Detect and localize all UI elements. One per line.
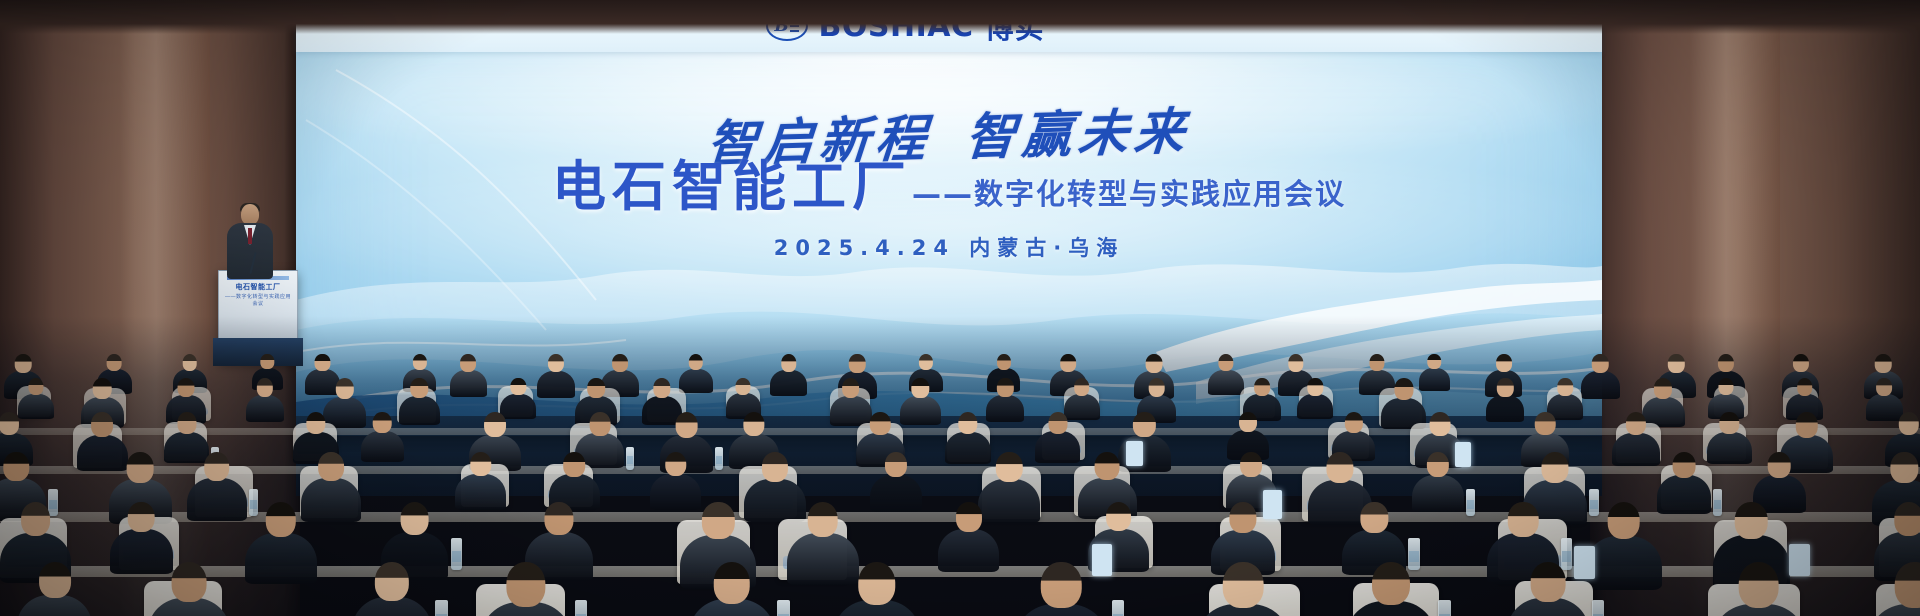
audience-attendee xyxy=(1707,412,1753,464)
attendee-head xyxy=(781,354,796,372)
attendee-head xyxy=(1720,412,1739,434)
attendee-head xyxy=(1894,502,1920,536)
audience-attendee xyxy=(148,562,230,616)
podium-title: 电石智能工厂 xyxy=(225,283,291,294)
presenter-tie xyxy=(248,228,252,244)
attendee-phone xyxy=(1789,544,1810,576)
attendee-shoulders xyxy=(361,431,405,462)
attendee-head xyxy=(1542,452,1569,483)
audience-attendee xyxy=(537,354,575,398)
attendee-head xyxy=(506,562,545,607)
attendee-head xyxy=(172,562,207,602)
attendee-phone xyxy=(1574,546,1595,578)
attendee-head xyxy=(1626,412,1646,435)
attendee-head xyxy=(1899,412,1919,435)
water-bottle xyxy=(777,600,790,616)
audience-attendee xyxy=(399,378,440,425)
screen-title-row: 电石智能工厂 ——数字化转型与实践应用会议 xyxy=(296,160,1602,214)
audience-attendee xyxy=(1612,412,1659,466)
attendee-head xyxy=(762,452,788,482)
attendee-head xyxy=(885,452,907,477)
attendee-head xyxy=(1508,502,1539,537)
attendee-head xyxy=(318,452,344,481)
attendee-head xyxy=(1061,354,1077,372)
water-bottle xyxy=(626,447,634,470)
attendee-phone xyxy=(1126,441,1143,467)
attendee-shoulders xyxy=(399,396,440,425)
attendee-head xyxy=(736,378,751,395)
attendee-head xyxy=(1668,354,1684,373)
attendee-shoulders xyxy=(770,370,806,396)
attendee-head xyxy=(1345,412,1363,433)
attendee-head xyxy=(128,502,155,532)
attendee-head xyxy=(1239,412,1257,432)
audience-attendee xyxy=(352,562,433,616)
attendee-head xyxy=(266,502,296,537)
water-bottle xyxy=(1466,489,1476,516)
attendee-head xyxy=(842,378,860,398)
audience-attendee xyxy=(1195,562,1291,616)
audience-attendee xyxy=(1035,412,1080,463)
attendee-shoulders xyxy=(1412,475,1464,512)
attendee-head xyxy=(1496,354,1512,372)
attendee-head xyxy=(1796,412,1818,438)
audience-attendee xyxy=(1657,452,1711,514)
audience-attendee xyxy=(900,378,941,425)
attendee-head xyxy=(460,354,476,372)
audience-attendee xyxy=(245,502,317,584)
attendee-head xyxy=(177,412,196,434)
audience-attendee xyxy=(455,452,505,510)
attendee-head xyxy=(675,412,698,438)
attendee-head xyxy=(744,412,765,436)
attendee-head xyxy=(335,378,353,399)
attendee-head xyxy=(1148,378,1165,397)
attendee-head xyxy=(1427,452,1449,477)
attendee-head xyxy=(373,412,392,433)
attendee-phone xyxy=(1092,544,1113,576)
attendee-head xyxy=(1429,412,1450,436)
attendee-head xyxy=(919,354,933,370)
attendee-shoulders xyxy=(450,370,487,397)
audience-attendee xyxy=(870,452,922,512)
attendee-head xyxy=(1768,452,1791,478)
attendee-head xyxy=(1074,378,1090,396)
attendee-shoulders xyxy=(679,369,713,393)
audience-attendee xyxy=(450,354,487,397)
attendee-head xyxy=(1106,502,1132,531)
attendee-phone xyxy=(1455,442,1472,468)
attendee-head xyxy=(1535,412,1556,435)
attendee-head xyxy=(958,412,977,434)
attendee-head xyxy=(997,378,1013,397)
audience-attendee xyxy=(938,502,999,572)
audience-attendee xyxy=(833,562,921,616)
attendee-head xyxy=(257,378,273,397)
podium-label: 电石智能工厂 ——数字化转型与实践应用会议 xyxy=(225,283,291,309)
attendee-head xyxy=(177,378,194,397)
water-bottle xyxy=(715,447,723,470)
attendee-shoulders xyxy=(938,529,999,573)
attendee-head xyxy=(470,452,491,476)
screen-main-title: 电石智能工厂 xyxy=(552,160,912,214)
attendee-head xyxy=(1735,502,1768,539)
attendee-head xyxy=(713,562,750,604)
attendee-head xyxy=(587,378,605,398)
attendee-head xyxy=(997,354,1011,370)
attendee-shoulders xyxy=(900,396,941,425)
audience-attendee xyxy=(679,354,713,393)
attendee-head xyxy=(1875,354,1892,373)
attendee-head xyxy=(858,562,895,605)
attendee-head xyxy=(1254,378,1270,396)
audience-attendee xyxy=(1581,354,1620,399)
attendee-head xyxy=(589,412,610,436)
attendee-shoulders xyxy=(537,371,575,398)
attendee-head xyxy=(0,412,19,435)
audience-attendee xyxy=(1585,502,1662,590)
attendee-head xyxy=(1041,562,1081,608)
attendee-shoulders xyxy=(246,395,284,422)
attendee-head xyxy=(375,562,409,601)
attendee-head xyxy=(1607,502,1640,539)
attendee-head xyxy=(91,412,113,437)
attendee-head xyxy=(1372,562,1410,605)
attendee-head xyxy=(28,378,43,395)
attendee-shoulders xyxy=(1657,475,1711,513)
attendee-head xyxy=(15,354,32,373)
hall-ceiling xyxy=(0,0,1920,34)
podium-subtitle: ——数字化转型与实践应用会议 xyxy=(225,294,291,309)
attendee-head xyxy=(1891,452,1918,483)
attendee-head xyxy=(1531,562,1566,602)
attendee-head xyxy=(1327,452,1354,483)
attendee-head xyxy=(93,378,112,399)
audience-attendee xyxy=(1867,562,1920,616)
attendee-head xyxy=(1592,354,1609,373)
audience-attendee xyxy=(1297,378,1333,419)
water-bottle xyxy=(1112,600,1125,616)
attendee-head xyxy=(665,452,686,476)
attendee-head xyxy=(1370,354,1385,371)
attendee-head xyxy=(1497,378,1513,397)
attendee-head xyxy=(912,378,929,398)
audience-attendee xyxy=(689,562,775,616)
attendee-shoulders xyxy=(1612,433,1659,467)
attendee-head xyxy=(39,562,71,598)
audience-attendee xyxy=(1486,378,1525,422)
banquet-table xyxy=(0,466,1920,474)
attendee-head xyxy=(261,354,274,369)
attendee-head xyxy=(1288,354,1303,372)
attendee-shoulders xyxy=(1581,371,1620,399)
attendee-head xyxy=(1394,378,1413,400)
attendee-head xyxy=(563,452,585,477)
screen-subtitle: ——数字化转型与实践应用会议 xyxy=(912,180,1346,214)
water-bottle xyxy=(451,538,462,570)
audience-attendee xyxy=(1208,354,1244,395)
attendee-head xyxy=(1673,452,1696,478)
attendee-head xyxy=(204,452,230,481)
water-bottle xyxy=(575,600,588,616)
attendee-head xyxy=(1738,562,1779,608)
attendee-head xyxy=(1048,412,1067,434)
audience-attendee xyxy=(1346,562,1435,616)
attendee-shoulders xyxy=(1486,395,1525,422)
screen-date-location: 2025.4.24 内蒙古·乌海 xyxy=(296,232,1602,262)
attendee-shoulders xyxy=(1585,536,1662,591)
attendee-head xyxy=(702,502,734,539)
attendee-head xyxy=(849,354,865,373)
attendee-shoulders xyxy=(1035,431,1080,463)
attendee-head xyxy=(412,354,426,370)
audience-attendee xyxy=(187,452,247,521)
attendee-head xyxy=(1557,378,1573,396)
attendee-head xyxy=(1792,354,1808,372)
attendee-head xyxy=(1894,562,1920,608)
attendee-shoulders xyxy=(1707,432,1753,464)
attendee-head xyxy=(689,354,703,370)
attendee-head xyxy=(1361,502,1388,533)
attendee-head xyxy=(807,502,838,537)
attendee-head xyxy=(1718,354,1734,372)
attendee-phone xyxy=(1263,490,1282,519)
attendee-head xyxy=(1428,354,1442,369)
audience-attendee xyxy=(361,412,405,462)
water-bottle xyxy=(435,600,448,616)
attendee-head xyxy=(107,354,122,371)
water-bottle xyxy=(1592,600,1605,616)
attendee-head xyxy=(1146,354,1163,373)
audience-attendee xyxy=(246,378,284,422)
attendee-shoulders xyxy=(870,475,922,512)
attendee-head xyxy=(956,502,982,532)
attendee-head xyxy=(21,502,51,536)
attendee-head xyxy=(548,354,564,372)
attendee-head xyxy=(653,378,670,398)
audience-attendee xyxy=(17,562,92,616)
attendee-head xyxy=(4,452,29,481)
audience-attendee xyxy=(986,378,1024,422)
attendee-head xyxy=(1240,452,1262,477)
conference-hall-scene: 智启新程智赢未来 电石智能工厂 ——数字化转型与实践应用会议 2025.4.24… xyxy=(0,0,1920,616)
attendee-head xyxy=(1797,378,1813,396)
audience-attendee xyxy=(480,562,572,616)
attendee-head xyxy=(1654,378,1672,399)
attendee-head xyxy=(544,502,573,535)
attendee-head xyxy=(1308,378,1323,396)
attendee-shoulders xyxy=(1208,370,1244,396)
attendee-head xyxy=(1095,452,1120,480)
attendee-head xyxy=(1133,412,1155,437)
water-bottle xyxy=(1438,600,1451,616)
attendee-head xyxy=(1223,562,1264,608)
attendee-head xyxy=(1718,378,1733,395)
calligraphy-right: 智赢未来 xyxy=(963,101,1192,166)
attendee-head xyxy=(511,378,526,395)
presenter-head xyxy=(241,204,259,225)
attendee-shoulders xyxy=(1297,394,1333,420)
attendee-head xyxy=(1219,354,1234,371)
audience-attendee xyxy=(770,354,806,396)
attendee-shoulders xyxy=(986,395,1024,422)
attendee-shoulders xyxy=(245,533,317,584)
attendee-head xyxy=(1229,502,1256,533)
attendee-head xyxy=(306,412,325,434)
attendee-head xyxy=(315,354,330,371)
attendee-head xyxy=(400,502,429,535)
attendee-head xyxy=(1877,378,1893,396)
attendee-head xyxy=(870,412,890,435)
attendee-head xyxy=(183,354,198,371)
audience-area xyxy=(0,316,1920,616)
attendee-head xyxy=(996,452,1022,482)
attendee-head xyxy=(127,452,154,483)
attendee-shoulders xyxy=(455,474,505,510)
attendee-head xyxy=(484,412,506,437)
attendee-head xyxy=(612,354,628,372)
attendee-head xyxy=(410,378,427,398)
attendee-shoulders xyxy=(187,478,247,521)
